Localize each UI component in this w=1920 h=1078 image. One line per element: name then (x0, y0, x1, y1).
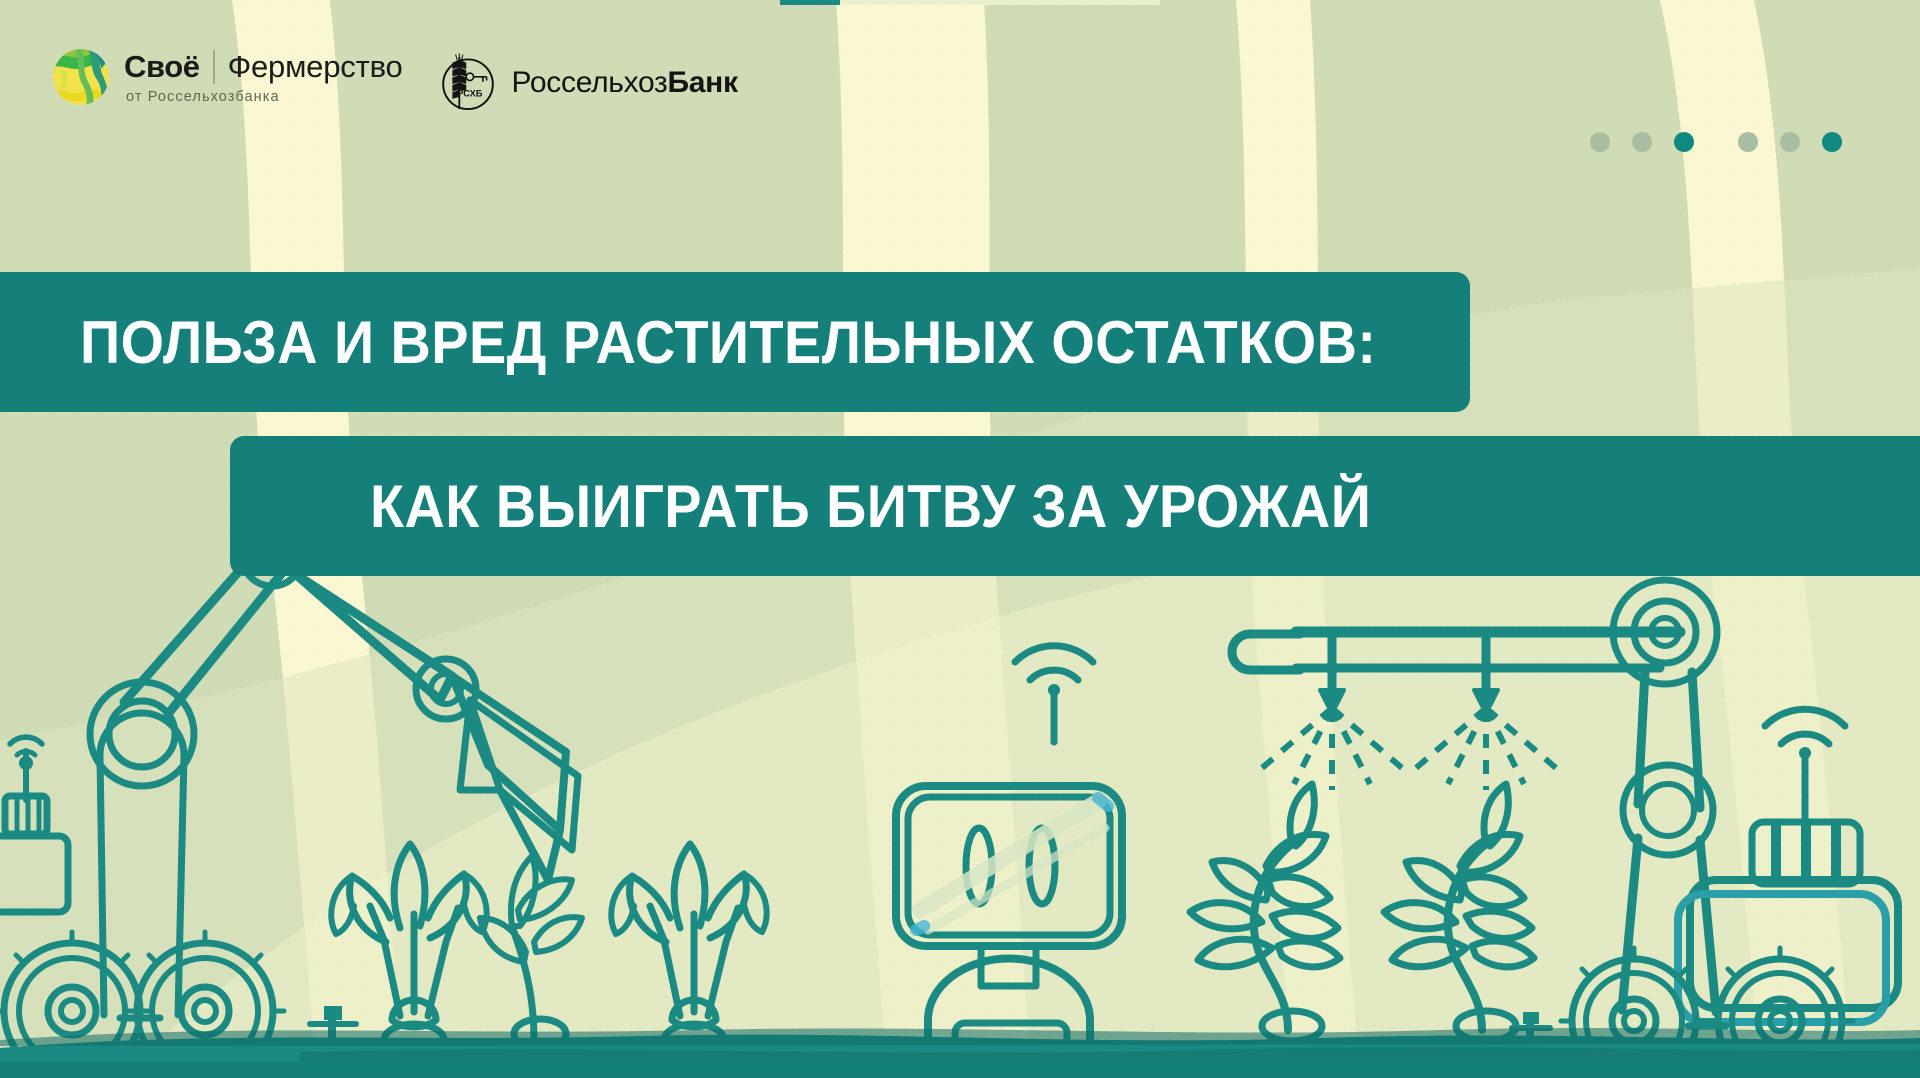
brand-logo-row: Своё Фермерство от Россельхозбанка (52, 48, 738, 114)
logo-divider (213, 50, 215, 84)
pagination-dot-3[interactable] (1674, 132, 1694, 152)
rshb-logo[interactable]: РСХБ РоссельхозБанк (437, 52, 738, 114)
pagination-dot-6[interactable] (1822, 132, 1842, 152)
title-line2-text: КАК ВЫИГРАТЬ БИТВУ ЗА УРОЖАЙ (370, 472, 1371, 541)
rshb-wordmark: РоссельхозБанк (512, 66, 738, 100)
slide-root: Своё Фермерство от Россельхозбанка (0, 0, 1920, 1078)
svoe-fermerstvo-logo[interactable]: Своё Фермерство от Россельхозбанка (52, 48, 403, 106)
pagination-dots[interactable] (1590, 132, 1842, 152)
top-accent-bar (780, 0, 840, 5)
top-accent-bar-light (840, 0, 1160, 5)
svoe-word: Своё (124, 49, 200, 85)
rshb-name-prefix: Россельхоз (512, 66, 668, 99)
pagination-dot-4[interactable] (1738, 132, 1758, 152)
pagination-dot-5[interactable] (1780, 132, 1800, 152)
svoe-subtitle: от Россельхозбанка (126, 89, 403, 105)
rshb-name-suffix: Банк (668, 66, 738, 99)
svoe-fermerstvo-wordmark: Своё Фермерство от Россельхозбанка (124, 49, 403, 105)
pagination-dot-2[interactable] (1632, 132, 1652, 152)
fermerstvo-word: Фермерство (228, 49, 403, 85)
rshb-wheat-key-logo-icon: РСХБ (437, 52, 499, 114)
title-line1-text: ПОЛЬЗА И ВРЕД РАСТИТЕЛЬНЫХ ОСТАТКОВ: (80, 308, 1376, 377)
title-banner-line2: КАК ВЫИГРАТЬ БИТВУ ЗА УРОЖАЙ (230, 436, 1920, 576)
title-banner-line1: ПОЛЬЗА И ВРЕД РАСТИТЕЛЬНЫХ ОСТАТКОВ: (0, 272, 1470, 412)
svg-text:РСХБ: РСХБ (457, 89, 483, 99)
pagination-dot-1[interactable] (1590, 132, 1610, 152)
svoe-fermerstvo-logo-icon (52, 48, 110, 106)
